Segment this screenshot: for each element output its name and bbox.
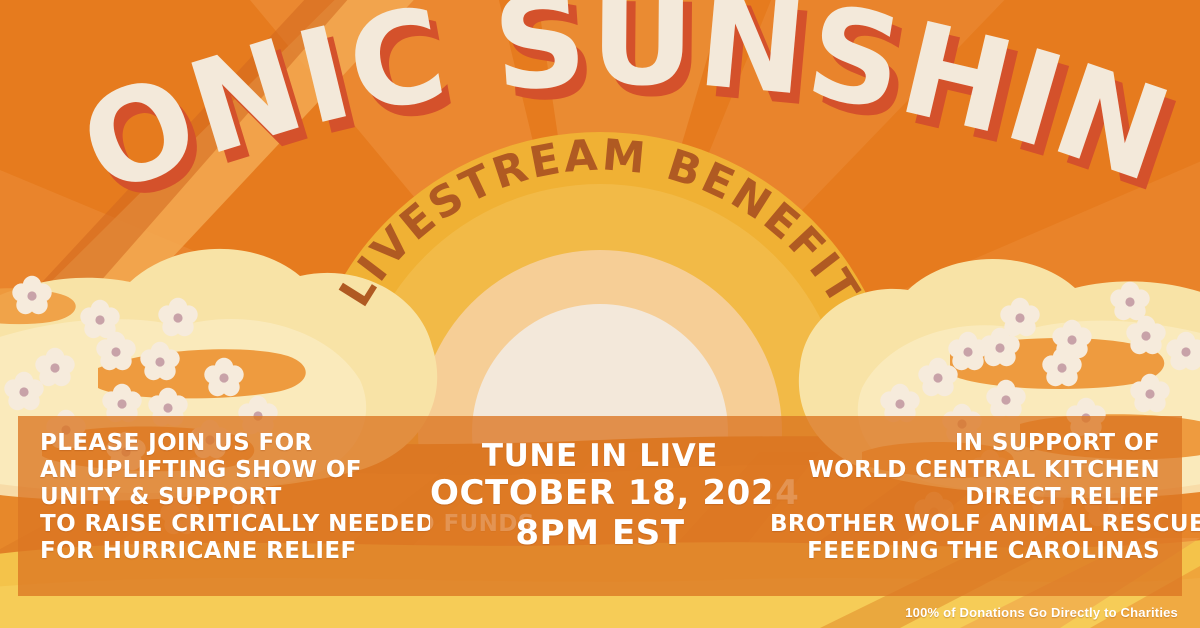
panel-center-line-1: TUNE IN LIVE (430, 438, 770, 474)
panel-right-line-3: DIRECT RELIEF (770, 484, 1160, 511)
panel-right-line-1: IN SUPPORT OF (770, 430, 1160, 457)
panel-left-message: PLEASE JOIN US FOR AN UPLIFTING SHOW OF … (18, 416, 430, 596)
panel-left-line-4: TO RAISE CRITICALLY NEEDED FUNDS (40, 511, 430, 538)
panel-center-line-2: OCTOBER 18, 2024 (430, 474, 770, 514)
panel-left-line-3: UNITY & SUPPORT (40, 484, 430, 511)
panel-left-line-2: AN UPLIFTING SHOW OF (40, 457, 430, 484)
panel-center-line-3: 8PM EST (430, 514, 770, 554)
panel-right-line-4: BROTHER WOLF ANIMAL RESCUE (770, 511, 1160, 538)
donation-fineprint: 100% of Donations Go Directly to Chariti… (905, 605, 1178, 620)
panel-left-line-1: PLEASE JOIN US FOR (40, 430, 430, 457)
panel-left-line-5: FOR HURRICANE RELIEF (40, 538, 430, 565)
panel-center-schedule: TUNE IN LIVE OCTOBER 18, 2024 8PM EST (430, 416, 770, 596)
panel-right-line-2: WORLD CENTRAL KITCHEN (770, 457, 1160, 484)
panel-right-line-5: FEEEDING THE CAROLINAS (770, 538, 1160, 565)
poster-canvas: LIVESTREAM BENEFIT SONIC SUNSHINE SONIC … (0, 0, 1200, 628)
panel-right-beneficiaries: IN SUPPORT OF WORLD CENTRAL KITCHEN DIRE… (770, 416, 1182, 596)
